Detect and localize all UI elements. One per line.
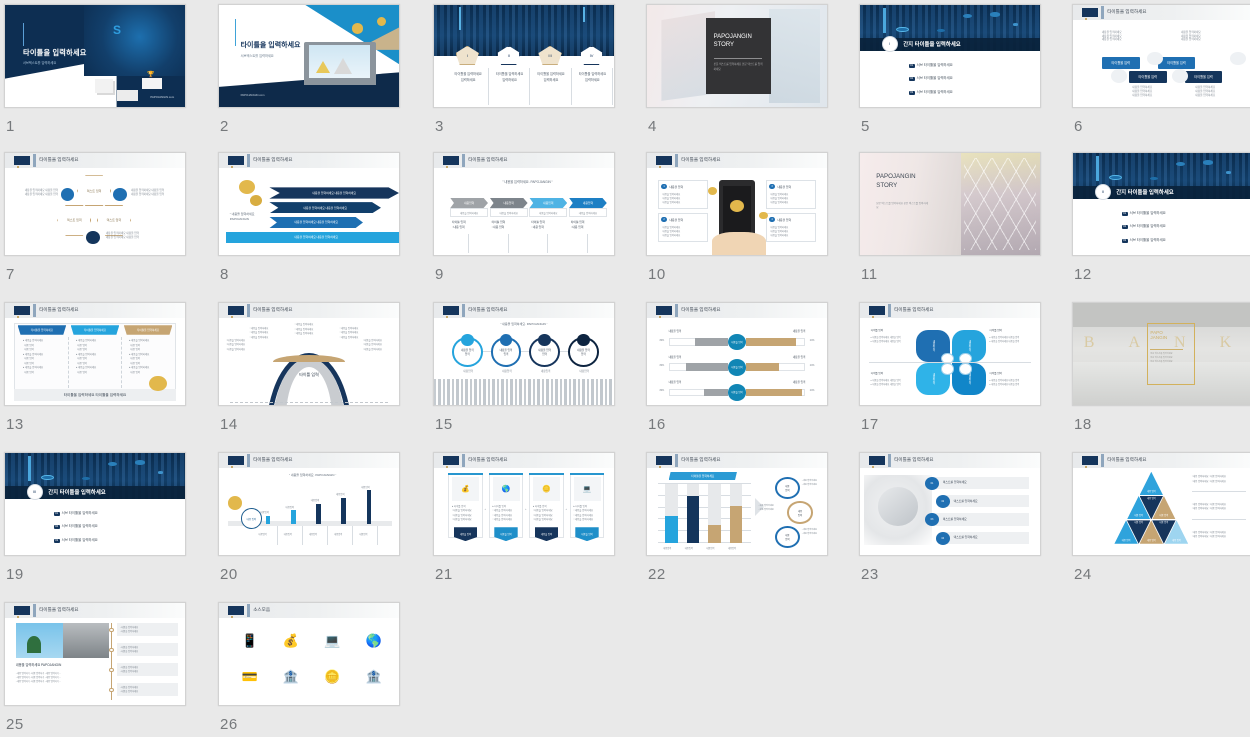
- badge-circle: 내용 입력: [241, 508, 263, 529]
- header-square-icon: [656, 306, 672, 315]
- header-square-icon: [656, 156, 672, 165]
- chart-bar: [341, 498, 346, 524]
- bar-label-left: 내용을 입력: [669, 381, 682, 385]
- bar-right: [746, 389, 802, 397]
- slide-thumbnail-10[interactable]: 타이틀을 입력하세요 1 내용을 입력 내용을 입력하세요내용을 입력하세요내용…: [646, 152, 828, 256]
- header-square-icon: [443, 456, 459, 465]
- chevron-bar: 내용을 입력하세요 내용을 입력하세요: [269, 217, 363, 228]
- bar-left: [704, 389, 728, 397]
- slide-title: 타이틀을 입력하세요: [39, 157, 78, 163]
- bar-category-label: 내용입력: [728, 548, 736, 551]
- bar-category-label: 내용입력: [685, 548, 693, 551]
- slide-cover: 타이틀을 입력하세요 서브텍스트를 입력하세요 PAPOJANGIN.com: [219, 5, 399, 107]
- divider-bullet: 02서브 타이틀을 입력하세요: [54, 524, 98, 529]
- slide-thumbnail-15[interactable]: 타이틀을 입력하세요 ” 내용을 입력하세요. PAPOJANGIN “ 내용을…: [433, 302, 615, 406]
- slide-cover: S 🏆 타이틀을 입력하세요 서브텍스트를 입력하세요 PAPOJANGIN.c…: [5, 5, 185, 107]
- source-icon[interactable]: 💳: [233, 662, 265, 693]
- header-square-icon: [443, 306, 459, 315]
- slide-chart: 타이틀을 입력하세요 내용을 입력 내용을 입력 내용을 입력 80% 20%내…: [647, 303, 827, 405]
- slide-cell: 타이틀을 입력하세요 내용을 입력하세요 PAPOJANGIN ::내용 입력하…: [4, 602, 186, 706]
- petal-note-title: 타이틀 입력: [871, 372, 883, 376]
- info-card: 2 내용을 입력 내용을 입력하세요내용을 입력하세요내용을 입력하세요: [658, 213, 708, 242]
- diagram-box: 타이틀을 입력: [1158, 57, 1196, 69]
- slide-header: 타이틀을 입력하세요: [219, 153, 399, 168]
- list-number-badge: 02: [936, 495, 950, 508]
- slide-thumbnail-5[interactable]: I 간지 타이틀을 입력하세요 01서브 타이틀을 입력하세요 02서브 타이틀…: [859, 4, 1041, 108]
- slide-title: 타이틀을 입력하세요: [681, 457, 720, 463]
- slide-thumbnail-23[interactable]: 타이틀을 입력하세요 01 텍스트를 입력하세요 02 텍스트를 입력하세요 0…: [859, 452, 1041, 556]
- slide-cell: 타이틀을 입력하세요 내용 입력내용 입력내용 입력내용 입력 타이틀 입력 ▸…: [859, 302, 1041, 406]
- slide-cell: 타이틀을 입력하세요 타이틀을 입력하세요 ▸ 내용을 입력하세요 내용 입력 …: [4, 302, 186, 406]
- slide-number: 2: [220, 118, 229, 135]
- table-cell: ▸ 내용을 입력하세요 내용 입력 내용 입력▸ 내용을 입력하세요 내용 입력…: [129, 339, 172, 376]
- slide-diagram: 타이틀을 입력하세요 ” 내용을 입력하세요. PAPOJANGIN “ 내용을…: [434, 303, 614, 405]
- divider-bullet: 03서브 타이틀을 입력하세요: [54, 538, 98, 543]
- pct-left: 80%: [660, 340, 665, 343]
- slide-header: 타이틀을 입력하세요: [860, 453, 1040, 468]
- slide-header: 타이틀을 입력하세요: [1073, 453, 1250, 468]
- slide-cell: S 🏆 타이틀을 입력하세요 서브텍스트를 입력하세요 PAPOJANGIN.c…: [4, 4, 186, 108]
- header-accent-bar: [33, 154, 36, 167]
- box-note: 내용을 입력하세요내용을 입력하세요내용을 입력하세요: [1102, 31, 1122, 43]
- slide-section: PAPOJANGINSTORY 본문 텍스트를 입력하세요 본문 텍스트를 입력…: [647, 5, 827, 107]
- step-arrow: 내용입력: [529, 198, 567, 208]
- box-note: 내용을 입력하세요내용을 입력하세요내용을 입력하세요: [1132, 86, 1152, 98]
- slide-header: 타이틀을 입력하세요: [434, 303, 614, 318]
- slide-divider: III 간지 타이틀을 입력하세요 01서브 타이틀을 입력하세요 02서브 타…: [5, 453, 185, 555]
- bar-label-left: 내용을 입력: [669, 330, 682, 334]
- header-accent-bar: [888, 304, 891, 317]
- node-icon: [113, 188, 127, 201]
- slide-cell: 타이틀을 입력하세요 타이틀 입력 ::내용을 입력하세요::내용을 입력하세요…: [218, 302, 400, 406]
- divider-bullet: 03서브 타이틀을 입력하세요: [909, 90, 953, 95]
- slide-thumbnail-9[interactable]: 타이틀을 입력하세요 ” 내용을 입력하세요. PAPOJANGIN “ 내용입…: [433, 152, 615, 256]
- card-ribbon: 내용을 입력: [575, 527, 598, 541]
- list-note: ::내용을 입력하세요::내용을 입력하세요: [120, 626, 138, 634]
- source-icon[interactable]: 🏦: [358, 662, 390, 693]
- chart-bar: [266, 516, 271, 524]
- slide-title: 타이틀을 입력하세요: [253, 457, 292, 463]
- source-icon[interactable]: 🌎: [358, 625, 390, 656]
- slide-cell: 타이틀을 입력하세요 ” 내용을 입력하세요. PAPOJANGIN “ 내용을…: [433, 302, 615, 406]
- slide-header: 타이틀을 입력하세요: [647, 453, 827, 468]
- petal-note-title: 타이틀 입력: [871, 329, 883, 333]
- slide-diagram: 타이틀을 입력하세요 타이틀을 입력타이틀을 입력타이틀을 입력타이틀을 입력 …: [1073, 5, 1250, 107]
- divider-title: 간지 타이틀을 입력하세요: [1116, 188, 1174, 196]
- slide-number: 5: [861, 118, 870, 135]
- pyramid-note: ::내용 입력하세요 ::내용 입력하세요::내용 입력하세요 ::내용 입력하…: [1192, 503, 1226, 512]
- slide-header: 타이틀을 입력하세요: [5, 603, 185, 618]
- coin-icon: [228, 496, 242, 510]
- lock-icon: [1147, 52, 1163, 66]
- coin-icon: [239, 180, 255, 194]
- gauge-note: ::내용을 입력하세요::내용을 입력하세요::내용을 입력하세요: [226, 339, 245, 352]
- slide-thumbnail-25[interactable]: 타이틀을 입력하세요 내용을 입력하세요 PAPOJANGIN ::내용 입력하…: [4, 602, 186, 706]
- pct-left: 80%: [660, 390, 665, 393]
- header-accent-bar: [462, 454, 465, 467]
- number-badge: 4: [769, 217, 775, 223]
- chart-bar: [687, 496, 700, 543]
- info-card: 3 내용을 입력 내용을 입력하세요내용을 입력하세요내용을 입력하세요: [766, 180, 816, 209]
- slide-section: BANK PAPOJANGIN 본문 텍스트를 입력하세요본문 텍스트를 입력하…: [1073, 303, 1250, 405]
- divider-bullet: 02서브 타이틀을 입력하세요: [1122, 224, 1166, 229]
- slide-cell: 타이틀을 입력하세요 ” 내용을 입력하세요. PAPOJANGIN “ 내용입…: [433, 152, 615, 256]
- slide-cell: 타이틀을 입력하세요 내용을 입력하세요 내용을 입력하세요내용을 입력하세요 …: [218, 152, 400, 256]
- slide-source: 소스모음 📱💰💻🌎💳🏦🪙🏦: [219, 603, 399, 705]
- slide-cell: I 타이틀을 입력하세요입력하세요 II 타이틀을 입력하세요입력하세요 III…: [433, 4, 615, 108]
- bar-category-label: 내용입력: [706, 548, 714, 551]
- slide-thumbnail-22[interactable]: 타이틀을 입력하세요 타이틀을 입력하세요 내용입력 내용입력 내용입력 내용입…: [646, 452, 828, 556]
- diagram-box: 타이틀을 입력: [1185, 71, 1223, 83]
- card-note: ▸ 타이틀 입력::내용을 입력하세요::내용을 입력하세요::내용을 입력하세…: [452, 505, 472, 523]
- story-title: PAPOJANGINSTORY: [714, 33, 768, 49]
- slide-cell: I 간지 타이틀을 입력하세요 01서브 타이틀을 입력하세요 02서브 타이틀…: [859, 4, 1041, 108]
- chart-bar: [665, 516, 678, 543]
- node-icon: [61, 188, 75, 201]
- quote: ” 내용을 입력하세요 PAPOJANGIN: [230, 212, 270, 222]
- slide-thumbnail-13[interactable]: 타이틀을 입력하세요 타이틀을 입력하세요 ▸ 내용을 입력하세요 내용 입력 …: [4, 302, 186, 406]
- slide-header: 타이틀을 입력하세요: [434, 453, 614, 468]
- slide-number: 11: [861, 266, 878, 283]
- circle-badge: [461, 334, 474, 346]
- card-ribbon: 내용을 입력: [535, 527, 558, 541]
- hex-note: 내용을 입력하세요 내용을 입력내용을 입력하세요 내용을 입력: [25, 189, 58, 197]
- slide-layout: 타이틀을 입력하세요 1 내용을 입력 내용을 입력하세요내용을 입력하세요내용…: [647, 153, 827, 255]
- slide-cell: BANK PAPOJANGIN 본문 텍스트를 입력하세요본문 텍스트를 입력하…: [1072, 302, 1250, 406]
- slide-number: 1: [6, 118, 15, 135]
- circle-badge: [538, 334, 551, 346]
- slide-cell: 타이틀을 입력하세요 서브텍스트를 입력하세요 PAPOJANGIN.com 2: [218, 4, 400, 108]
- slide-agenda: I 타이틀을 입력하세요입력하세요 II 타이틀을 입력하세요입력하세요 III…: [434, 5, 614, 107]
- flow-node: 내용입력: [787, 501, 812, 524]
- cover-title: 타이틀을 입력하세요: [23, 48, 87, 58]
- cover-title: 타이틀을 입력하세요: [241, 40, 301, 50]
- slide-diagram: 타이틀을 입력하세요 내용 입력내용 입력내용 입력내용 입력 타이틀 입력 ▸…: [860, 303, 1040, 405]
- box-note: 내용을 입력하세요내용을 입력하세요내용을 입력하세요: [1181, 31, 1201, 43]
- petal-note-title: 타이틀 입력: [990, 372, 1002, 376]
- slide-thumbnail-16[interactable]: 타이틀을 입력하세요 내용을 입력 내용을 입력 내용을 입력 80% 20%내…: [646, 302, 828, 406]
- bar-value-label: 내용입력: [361, 487, 369, 490]
- quote: ” 내용을 입력하세요. PAPOJANGIN “: [474, 179, 582, 184]
- slide-divider: I 간지 타이틀을 입력하세요 01서브 타이틀을 입력하세요 02서브 타이틀…: [860, 5, 1040, 107]
- bar-right: [746, 363, 779, 371]
- slide-header: 소스모음: [219, 603, 399, 618]
- step-note: 타이틀 입력::내용 입력: [571, 220, 585, 230]
- header-square-icon: [869, 456, 885, 465]
- bar-label-right: 내용을 입력: [793, 381, 806, 385]
- card-note: ▸ 타이틀 입력::내용을 입력하세요::내용을 입력하세요::내용을 입력하세…: [574, 505, 594, 523]
- slide-header: 타이틀을 입력하세요: [1073, 5, 1250, 20]
- bar-value-label: 내용입력: [286, 507, 294, 510]
- table-footer: 타이틀을 입력하세요 타이틀을 입력하세요: [14, 389, 176, 400]
- bar-category-label: 내용입력: [359, 534, 367, 537]
- chart-icon: [1230, 52, 1246, 66]
- slide-thumbnail-20[interactable]: 타이틀을 입력하세요 ” 내용을 입력하세요. PAPOJANGIN “ 내용입…: [218, 452, 400, 556]
- header-accent-bar: [1101, 454, 1104, 467]
- circle-caption: 내용입력: [531, 370, 560, 374]
- slide-list: 타이틀을 입력하세요 01 텍스트를 입력하세요 02 텍스트를 입력하세요 0…: [860, 453, 1040, 555]
- source-icon[interactable]: 🏦: [275, 662, 307, 693]
- list-label: 텍스트를 입력하세요: [954, 499, 978, 503]
- flow-node: 내용입력: [775, 526, 800, 549]
- card-image: 🪙: [533, 477, 560, 501]
- slide-thumbnail-8[interactable]: 타이틀을 입력하세요 내용을 입력하세요 내용을 입력하세요내용을 입력하세요 …: [218, 152, 400, 256]
- cover-art: [84, 5, 185, 76]
- slide-thumbnail-17[interactable]: 타이틀을 입력하세요 내용 입력내용 입력내용 입력내용 입력 타이틀 입력 ▸…: [859, 302, 1041, 406]
- slide-divider: II 간지 타이틀을 입력하세요 01서브 타이틀을 입력하세요 02서브 타이…: [1073, 153, 1250, 255]
- step-note: 타이틀 입력::내용 입력: [531, 220, 545, 230]
- slide-thumbnail-12[interactable]: II 간지 타이틀을 입력하세요 01서브 타이틀을 입력하세요 02서브 타이…: [1072, 152, 1250, 256]
- slide-diagram: 타이틀을 입력하세요 ” 내용을 입력하세요. PAPOJANGIN “ 내용입…: [434, 153, 614, 255]
- story-card: [706, 18, 771, 93]
- chart-bar: [730, 506, 743, 543]
- slide-diagram: 타이틀을 입력하세요 타이틀 입력 ::내용을 입력하세요::내용을 입력하세요…: [219, 303, 399, 405]
- source-icon[interactable]: 💻: [316, 625, 348, 656]
- slide-cards: 타이틀을 입력하세요 💰 ▸ 타이틀 입력::내용을 입력하세요::내용을 입력…: [434, 453, 614, 555]
- slide-thumbnail-21[interactable]: 타이틀을 입력하세요 💰 ▸ 타이틀 입력::내용을 입력하세요::내용을 입력…: [433, 452, 615, 556]
- bar-category-label: 내용입력: [334, 534, 342, 537]
- header-accent-bar: [462, 304, 465, 317]
- bar-category-label: 내용입력: [663, 548, 671, 551]
- header-accent-bar: [247, 154, 250, 167]
- table-header: 타이틀을 입력하세요: [18, 325, 67, 335]
- slide-number: 15: [435, 416, 453, 433]
- story-title: PAPOJANGIN: [1150, 330, 1167, 342]
- pyramid-cell: 내용 입력: [1140, 472, 1163, 495]
- bar-category-label: 내용입력: [284, 534, 292, 537]
- bar-label-right: 내용을 입력: [793, 330, 806, 334]
- slide-cell: 타이틀을 입력하세요 01 텍스트를 입력하세요 02 텍스트를 입력하세요 0…: [859, 452, 1041, 556]
- slide-header: 타이틀을 입력하세요: [647, 153, 827, 168]
- slide-number: 20: [220, 566, 238, 583]
- slide-number: 25: [6, 716, 24, 733]
- step-subbox: 내용을 입력하세요: [569, 208, 607, 217]
- cover-logo: PAPOJANGIN.com: [150, 95, 174, 99]
- slide-number: 3: [435, 118, 444, 135]
- diagram-box: 타이틀을 입력: [1129, 71, 1167, 83]
- center-node: 내용을 입력: [728, 359, 746, 375]
- header-accent-bar: [247, 454, 250, 467]
- shield-icon: [1172, 69, 1188, 83]
- circle-caption: 내용입력: [493, 370, 522, 374]
- flow-note: ::내용 입력하세요::내용 입력하세요: [759, 505, 774, 513]
- hex-pattern: [964, 158, 1036, 250]
- pct-left: 80%: [660, 365, 665, 368]
- slide-cell: PAPOJANGINSTORY 본문 텍스트를 입력하세요 본문 텍스트를 입력…: [859, 152, 1041, 256]
- chart-bar: [708, 525, 721, 543]
- box-note: 내용을 입력하세요내용을 입력하세요내용을 입력하세요: [1195, 86, 1215, 98]
- bar-category-label: 내용입력: [309, 534, 317, 537]
- slide-thumbnail-4[interactable]: PAPOJANGINSTORY 본문 텍스트를 입력하세요 본문 텍스트를 입력…: [646, 4, 828, 108]
- slide-cell: 타이틀을 입력하세요 ” 내용을 입력하세요. PAPOJANGIN “ 내용입…: [218, 452, 400, 556]
- slide-thumbnail-24[interactable]: 타이틀을 입력하세요 내용 입력 내용 입력 내용 입력 내용 입력 내용 입력…: [1072, 452, 1250, 556]
- slide-title: 소스모음: [253, 607, 270, 613]
- slide-header: 타이틀을 입력하세요: [219, 453, 399, 468]
- gauge-center-label: 타이틀 입력: [284, 372, 334, 378]
- bar-category-label: 내용입력: [259, 534, 267, 537]
- header-accent-bar: [675, 304, 678, 317]
- slide-number: 9: [435, 266, 444, 283]
- petal-note: ▸ 내용을 입력하세요 내용을 입력▸ 내용을 입력하세요 내용을 입력: [871, 336, 901, 344]
- slide-thumbnail-11[interactable]: PAPOJANGINSTORY 본문 텍스트를 입력하세요 본문 텍스트를 입력…: [859, 152, 1041, 256]
- header-square-icon: [228, 306, 244, 315]
- bar-label-right: 내용을 입력: [793, 356, 806, 360]
- slide-number: 18: [1074, 416, 1092, 433]
- source-icon[interactable]: 📱: [233, 625, 265, 656]
- slide-number: 10: [648, 266, 666, 283]
- center-node: 내용을 입력: [728, 334, 746, 350]
- slide-cell: 타이틀을 입력하세요 텍스트 입력 텍스트 입력 텍스트 입력 내용을 입력하세…: [4, 152, 186, 256]
- header-square-icon: [1082, 456, 1098, 465]
- step-arrow: 내용입력: [569, 198, 607, 208]
- step-subbox: 내용을 입력하세요: [450, 208, 488, 217]
- petal-note: ▸ 내용을 입력하세요 내용을 입력▸ 내용을 입력하세요 내용을 입력: [871, 379, 901, 387]
- photo-right: [63, 623, 110, 658]
- divider-title: 간지 타이틀을 입력하세요: [903, 40, 961, 48]
- slide-diagram: 타이틀을 입력하세요 내용 입력 내용 입력 내용 입력 내용 입력 내용 입력…: [1073, 453, 1250, 555]
- slide-cell: 타이틀을 입력하세요 내용을 입력 내용을 입력 내용을 입력 80% 20%내…: [646, 302, 828, 406]
- gauge-note: ::내용을 입력하세요::내용을 입력하세요::내용을 입력하세요: [295, 323, 314, 336]
- slide-cell: 타이틀을 입력하세요 내용 입력 내용 입력 내용 입력 내용 입력 내용 입력…: [1072, 452, 1250, 556]
- number-badge: 1: [661, 184, 667, 190]
- cover-subtitle: 서브텍스트를 입력하세요: [23, 60, 56, 65]
- slide-title: 타이틀을 입력하세요: [253, 307, 292, 313]
- slide-cell: 타이틀을 입력하세요 타이틀을 입력타이틀을 입력타이틀을 입력타이틀을 입력 …: [1072, 4, 1250, 108]
- bar-left: [695, 338, 728, 346]
- slide-thumbnail-3[interactable]: I 타이틀을 입력하세요입력하세요 II 타이틀을 입력하세요입력하세요 III…: [433, 4, 615, 108]
- slide-number: 22: [648, 566, 666, 583]
- agenda-caption: 타이틀을 입력하세요입력하세요: [452, 72, 484, 83]
- roman-badge: III: [27, 484, 43, 500]
- chart-bar: [367, 490, 372, 524]
- slide-number: 4: [648, 118, 657, 135]
- card-image: 💰: [452, 477, 479, 501]
- pct-right: 20%: [810, 390, 815, 393]
- header-accent-bar: [675, 154, 678, 167]
- header-accent-bar: [247, 304, 250, 317]
- slide-header: 타이틀을 입력하세요: [647, 303, 827, 318]
- list-number-badge: 04: [936, 532, 950, 545]
- slide-cell: 타이틀을 입력하세요 💰 ▸ 타이틀 입력::내용을 입력하세요::내용을 입력…: [433, 452, 615, 556]
- step-arrow: 내용입력: [450, 198, 488, 208]
- agenda-caption: 타이틀을 입력하세요입력하세요: [535, 72, 567, 83]
- user-icon: [1111, 69, 1127, 83]
- slide-title: 타이틀을 입력하세요: [468, 307, 507, 313]
- story-title: PAPOJANGINSTORY: [876, 173, 915, 190]
- slide-cell: III 간지 타이틀을 입력하세요 01서브 타이틀을 입력하세요 02서브 타…: [4, 452, 186, 556]
- chevron-bar: 내용을 입력하세요 내용을 입력하세요: [269, 187, 399, 198]
- slide-chart: 타이틀을 입력하세요 ” 내용을 입력하세요. PAPOJANGIN “ 내용입…: [219, 453, 399, 555]
- header-accent-bar: [462, 154, 465, 167]
- slide-header: 타이틀을 입력하세요: [434, 153, 614, 168]
- bar-right: [746, 338, 796, 346]
- source-icon[interactable]: 🪙: [316, 662, 348, 693]
- cover-logo: PAPOJANGIN.com: [241, 93, 265, 97]
- header-accent-bar: [247, 604, 250, 617]
- slide-number: 8: [220, 266, 229, 283]
- slide-thumbnail-2[interactable]: 타이틀을 입력하세요 서브텍스트를 입력하세요 PAPOJANGIN.com: [218, 4, 400, 108]
- divider-bullet: 02서브 타이틀을 입력하세요: [909, 76, 953, 81]
- hexagon-cell: 텍스트 입력: [57, 205, 91, 236]
- divider-bullet: 03서브 타이틀을 입력하세요: [1122, 238, 1166, 243]
- slide-number: 7: [6, 266, 15, 283]
- slide-number: 26: [220, 716, 238, 733]
- slide-table: 타이틀을 입력하세요 타이틀을 입력하세요 ▸ 내용을 입력하세요 내용 입력 …: [5, 303, 185, 405]
- slide-thumbnail-14[interactable]: 타이틀을 입력하세요 타이틀 입력 ::내용을 입력하세요::내용을 입력하세요…: [218, 302, 400, 406]
- coin-icon: [149, 376, 167, 392]
- slide-thumbnail-19[interactable]: III 간지 타이틀을 입력하세요 01서브 타이틀을 입력하세요 02서브 타…: [4, 452, 186, 556]
- list-number-badge: 01: [925, 477, 939, 490]
- step-arrow: 내용입력: [490, 198, 528, 208]
- slide-section: PAPOJANGINSTORY 본문 텍스트를 입력하세요 본문 텍스트를 입력…: [860, 153, 1040, 255]
- bar-value-label: 내용입력: [336, 494, 344, 497]
- card-image: 🌎: [493, 477, 520, 501]
- slide-title: 타이틀을 입력하세요: [39, 607, 78, 613]
- bar-value-label: 내용입력: [311, 500, 319, 503]
- caption-note: ::내용 입력하기 ::내용 입력하기 ::내용 입력하기 ::::내용 입력하…: [16, 672, 61, 685]
- petal-note: ▸ 내용을 입력하세요 내용을 입력▸ 내용을 입력하세요 내용을 입력: [990, 336, 1020, 344]
- slide-thumbnail-6[interactable]: 타이틀을 입력하세요 타이틀을 입력타이틀을 입력타이틀을 입력타이틀을 입력 …: [1072, 4, 1250, 108]
- center-node: 내용을 입력: [728, 384, 746, 400]
- petal-note: ▸ 내용을 입력하세요 내용을 입력▸ 내용을 입력하세요 내용을 입력: [990, 379, 1020, 387]
- petal-icon: [941, 363, 954, 374]
- slide-title: 타이틀을 입력하세요: [468, 157, 507, 163]
- header-accent-bar: [33, 304, 36, 317]
- agenda-caption: 타이틀을 입력하세요입력하세요: [493, 72, 525, 83]
- gauge-note: ::내용을 입력하세요::내용을 입력하세요::내용을 입력하세요: [340, 327, 359, 340]
- story-desc: 본문 텍스트를 입력하세요본문 텍스트를 입력하세요본문 텍스트를 입력하세요: [1150, 353, 1188, 365]
- header-accent-bar: [675, 454, 678, 467]
- city-silhouette: [434, 379, 614, 405]
- chart-title-banner: 타이틀을 입력하세요: [669, 472, 737, 481]
- slide-title: 타이틀을 입력하세요: [253, 157, 292, 163]
- card-ribbon: 내용을 입력: [454, 527, 477, 541]
- header-square-icon: [228, 456, 244, 465]
- slide-cell: II 간지 타이틀을 입력하세요 01서브 타이틀을 입력하세요 02서브 타이…: [1072, 152, 1250, 256]
- roman-badge: II: [1095, 184, 1111, 200]
- divider-bullet: 01서브 타이틀을 입력하세요: [1122, 211, 1166, 216]
- pyramid-note: ::내용 입력하세요 ::내용 입력하세요::내용 입력하세요 ::내용 입력하…: [1192, 531, 1226, 540]
- divider-title: 간지 타이틀을 입력하세요: [48, 488, 106, 496]
- cover-subtitle: 서브텍스트를 입력하세요: [241, 53, 274, 58]
- slide-number: 16: [648, 416, 666, 433]
- pyramid-note: ::내용 입력하세요 ::내용 입력하세요::내용 입력하세요 ::내용 입력하…: [1192, 475, 1226, 484]
- step-subbox: 내용을 입력하세요: [490, 208, 528, 217]
- slide-header: 타이틀을 입력하세요: [5, 303, 185, 318]
- slide-thumbnail-1[interactable]: S 🏆 타이틀을 입력하세요 서브텍스트를 입력하세요 PAPOJANGIN.c…: [4, 4, 186, 108]
- slide-header: 타이틀을 입력하세요: [219, 303, 399, 318]
- header-square-icon: [14, 606, 30, 615]
- source-icon[interactable]: 💰: [275, 625, 307, 656]
- header-square-icon: [228, 156, 244, 165]
- list-bullet-icon: [109, 668, 114, 672]
- list-bullet-icon: [109, 628, 114, 632]
- table-header: 타이틀을 입력하세요: [124, 325, 173, 335]
- list-bullet-icon: [109, 648, 114, 652]
- slide-thumbnail-26[interactable]: 소스모음 📱💰💻🌎💳🏦🪙🏦: [218, 602, 400, 706]
- table-cell: ▸ 내용을 입력하세요 내용 입력 내용 입력▸ 내용을 입력하세요 내용 입력…: [76, 339, 119, 376]
- slide-thumbnail-18[interactable]: BANK PAPOJANGIN 본문 텍스트를 입력하세요본문 텍스트를 입력하…: [1072, 302, 1250, 406]
- slide-thumbnail-7[interactable]: 타이틀을 입력하세요 텍스트 입력 텍스트 입력 텍스트 입력 내용을 입력하세…: [4, 152, 186, 256]
- gauge-note: ::내용을 입력하세요::내용을 입력하세요::내용을 입력하세요: [250, 327, 269, 340]
- slide-title: 타이틀을 입력하세요: [1107, 9, 1146, 15]
- slide-cell: PAPOJANGINSTORY 본문 텍스트를 입력하세요 본문 텍스트를 입력…: [646, 4, 828, 108]
- pct-right: 20%: [810, 365, 815, 368]
- quote: ” 내용을 입력하세요. PAPOJANGIN “: [470, 322, 578, 326]
- city-illustration: [434, 5, 614, 56]
- step-subbox: 내용을 입력하세요: [529, 208, 567, 217]
- slide-number: 12: [1074, 266, 1092, 283]
